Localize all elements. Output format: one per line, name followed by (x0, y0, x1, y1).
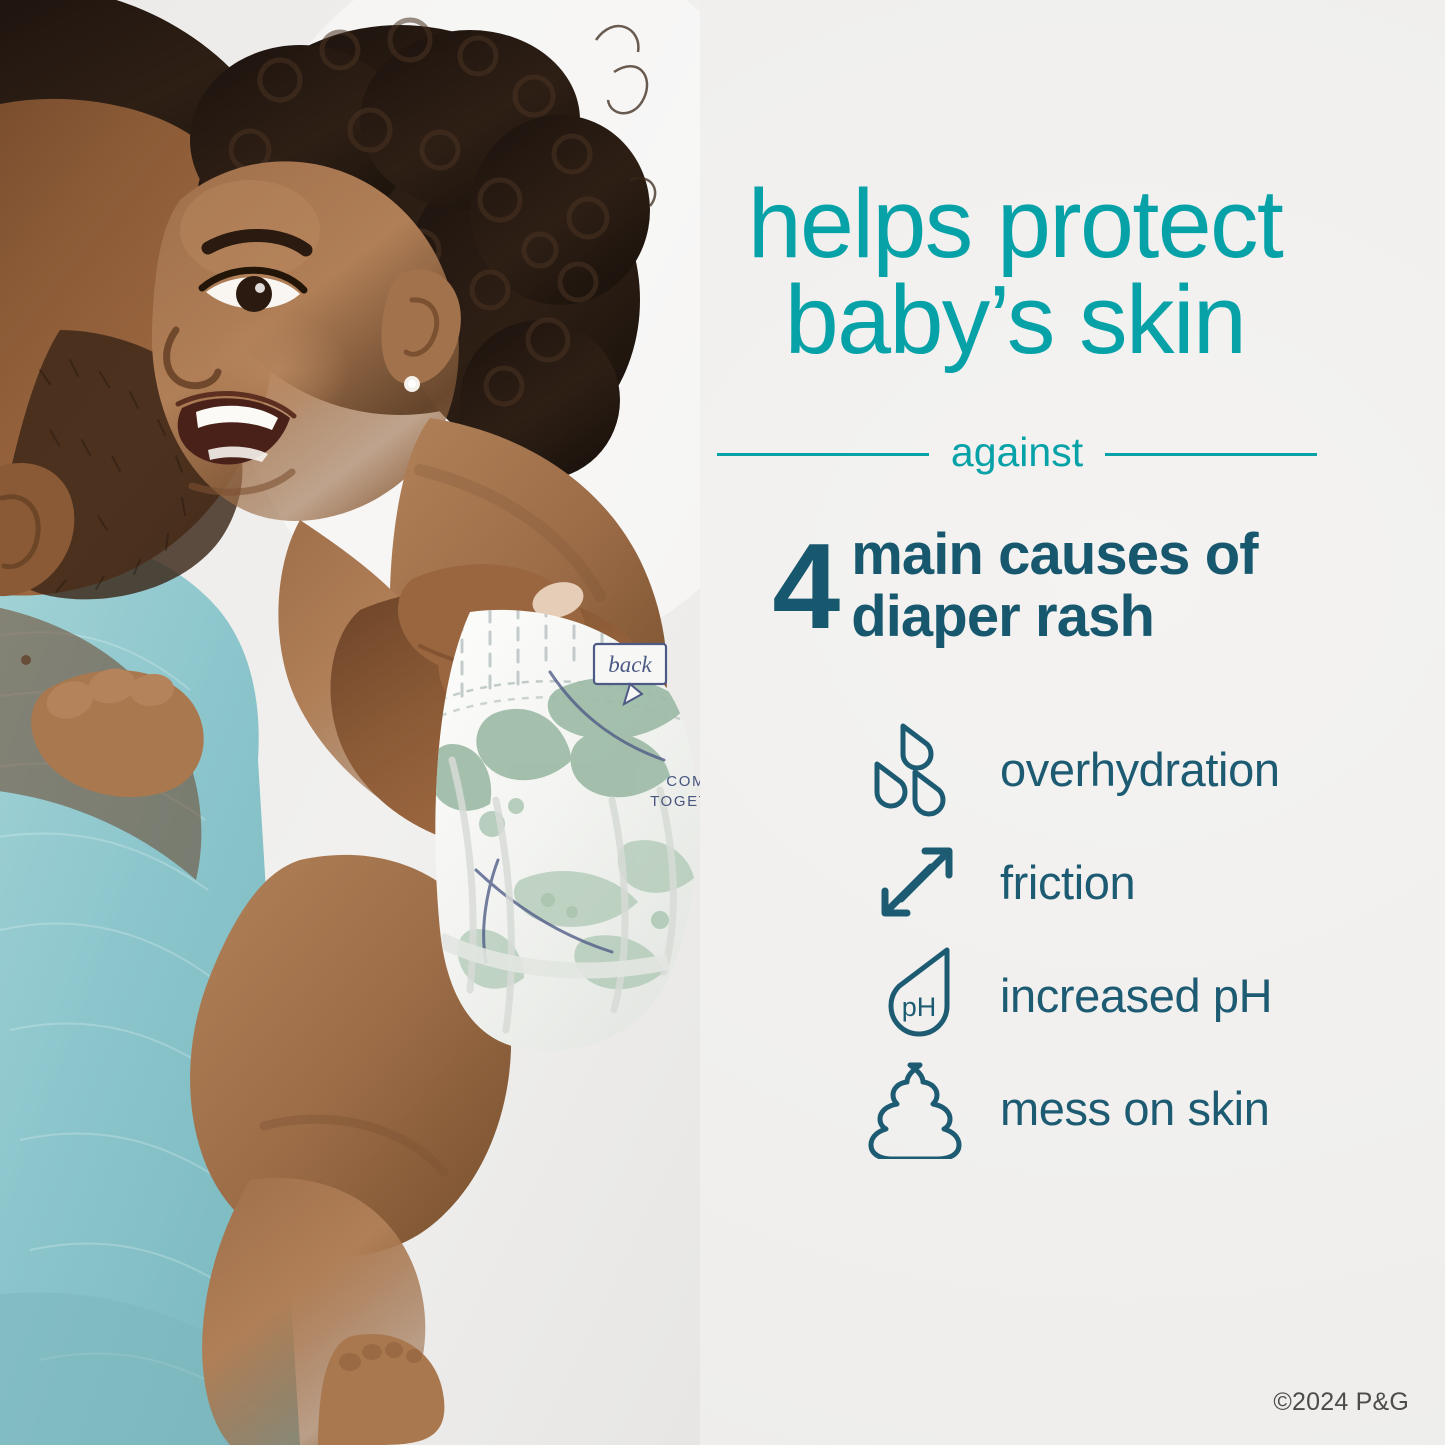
page-title: helps protect baby’s skin (655, 176, 1375, 368)
water-droplets-icon (860, 718, 978, 822)
causes-text: main causes of diaper rash (851, 524, 1257, 648)
causes-line-2: diaper rash (851, 584, 1154, 649)
list-item: mess on skin (860, 1052, 1420, 1165)
divider-label: against (951, 432, 1083, 477)
list-item-label: mess on skin (978, 1085, 1269, 1132)
list-item: friction (860, 826, 1420, 939)
cause-list: overhydration friction (860, 713, 1420, 1165)
mess-icon (860, 1059, 978, 1159)
headline-line-1: helps protect (748, 169, 1283, 278)
ph-droplet-icon: pH (860, 944, 978, 1048)
svg-text:pH: pH (902, 992, 937, 1022)
causes-heading: 4 main causes of diaper rash (655, 524, 1375, 648)
list-item-label: increased pH (978, 972, 1272, 1019)
against-divider: against (717, 432, 1317, 477)
divider-rule-left (717, 453, 929, 456)
advertisement-canvas: back COME TOGETHER helps protect baby’s … (0, 0, 1445, 1445)
copyright-notice: ©2024 P&G (1273, 1388, 1409, 1417)
hero-photo: back COME TOGETHER (0, 0, 700, 1445)
list-item: pH increased pH (860, 939, 1420, 1052)
content-column: helps protect baby’s skin against 4 main… (655, 0, 1445, 1445)
friction-arrows-icon (860, 841, 978, 925)
causes-line-1: main causes of (851, 522, 1257, 587)
divider-rule-right (1105, 453, 1317, 456)
causes-count: 4 (772, 536, 837, 636)
headline-line-2: baby’s skin (655, 272, 1375, 368)
list-item: overhydration (860, 713, 1420, 826)
list-item-label: friction (978, 859, 1135, 906)
list-item-label: overhydration (978, 746, 1280, 793)
